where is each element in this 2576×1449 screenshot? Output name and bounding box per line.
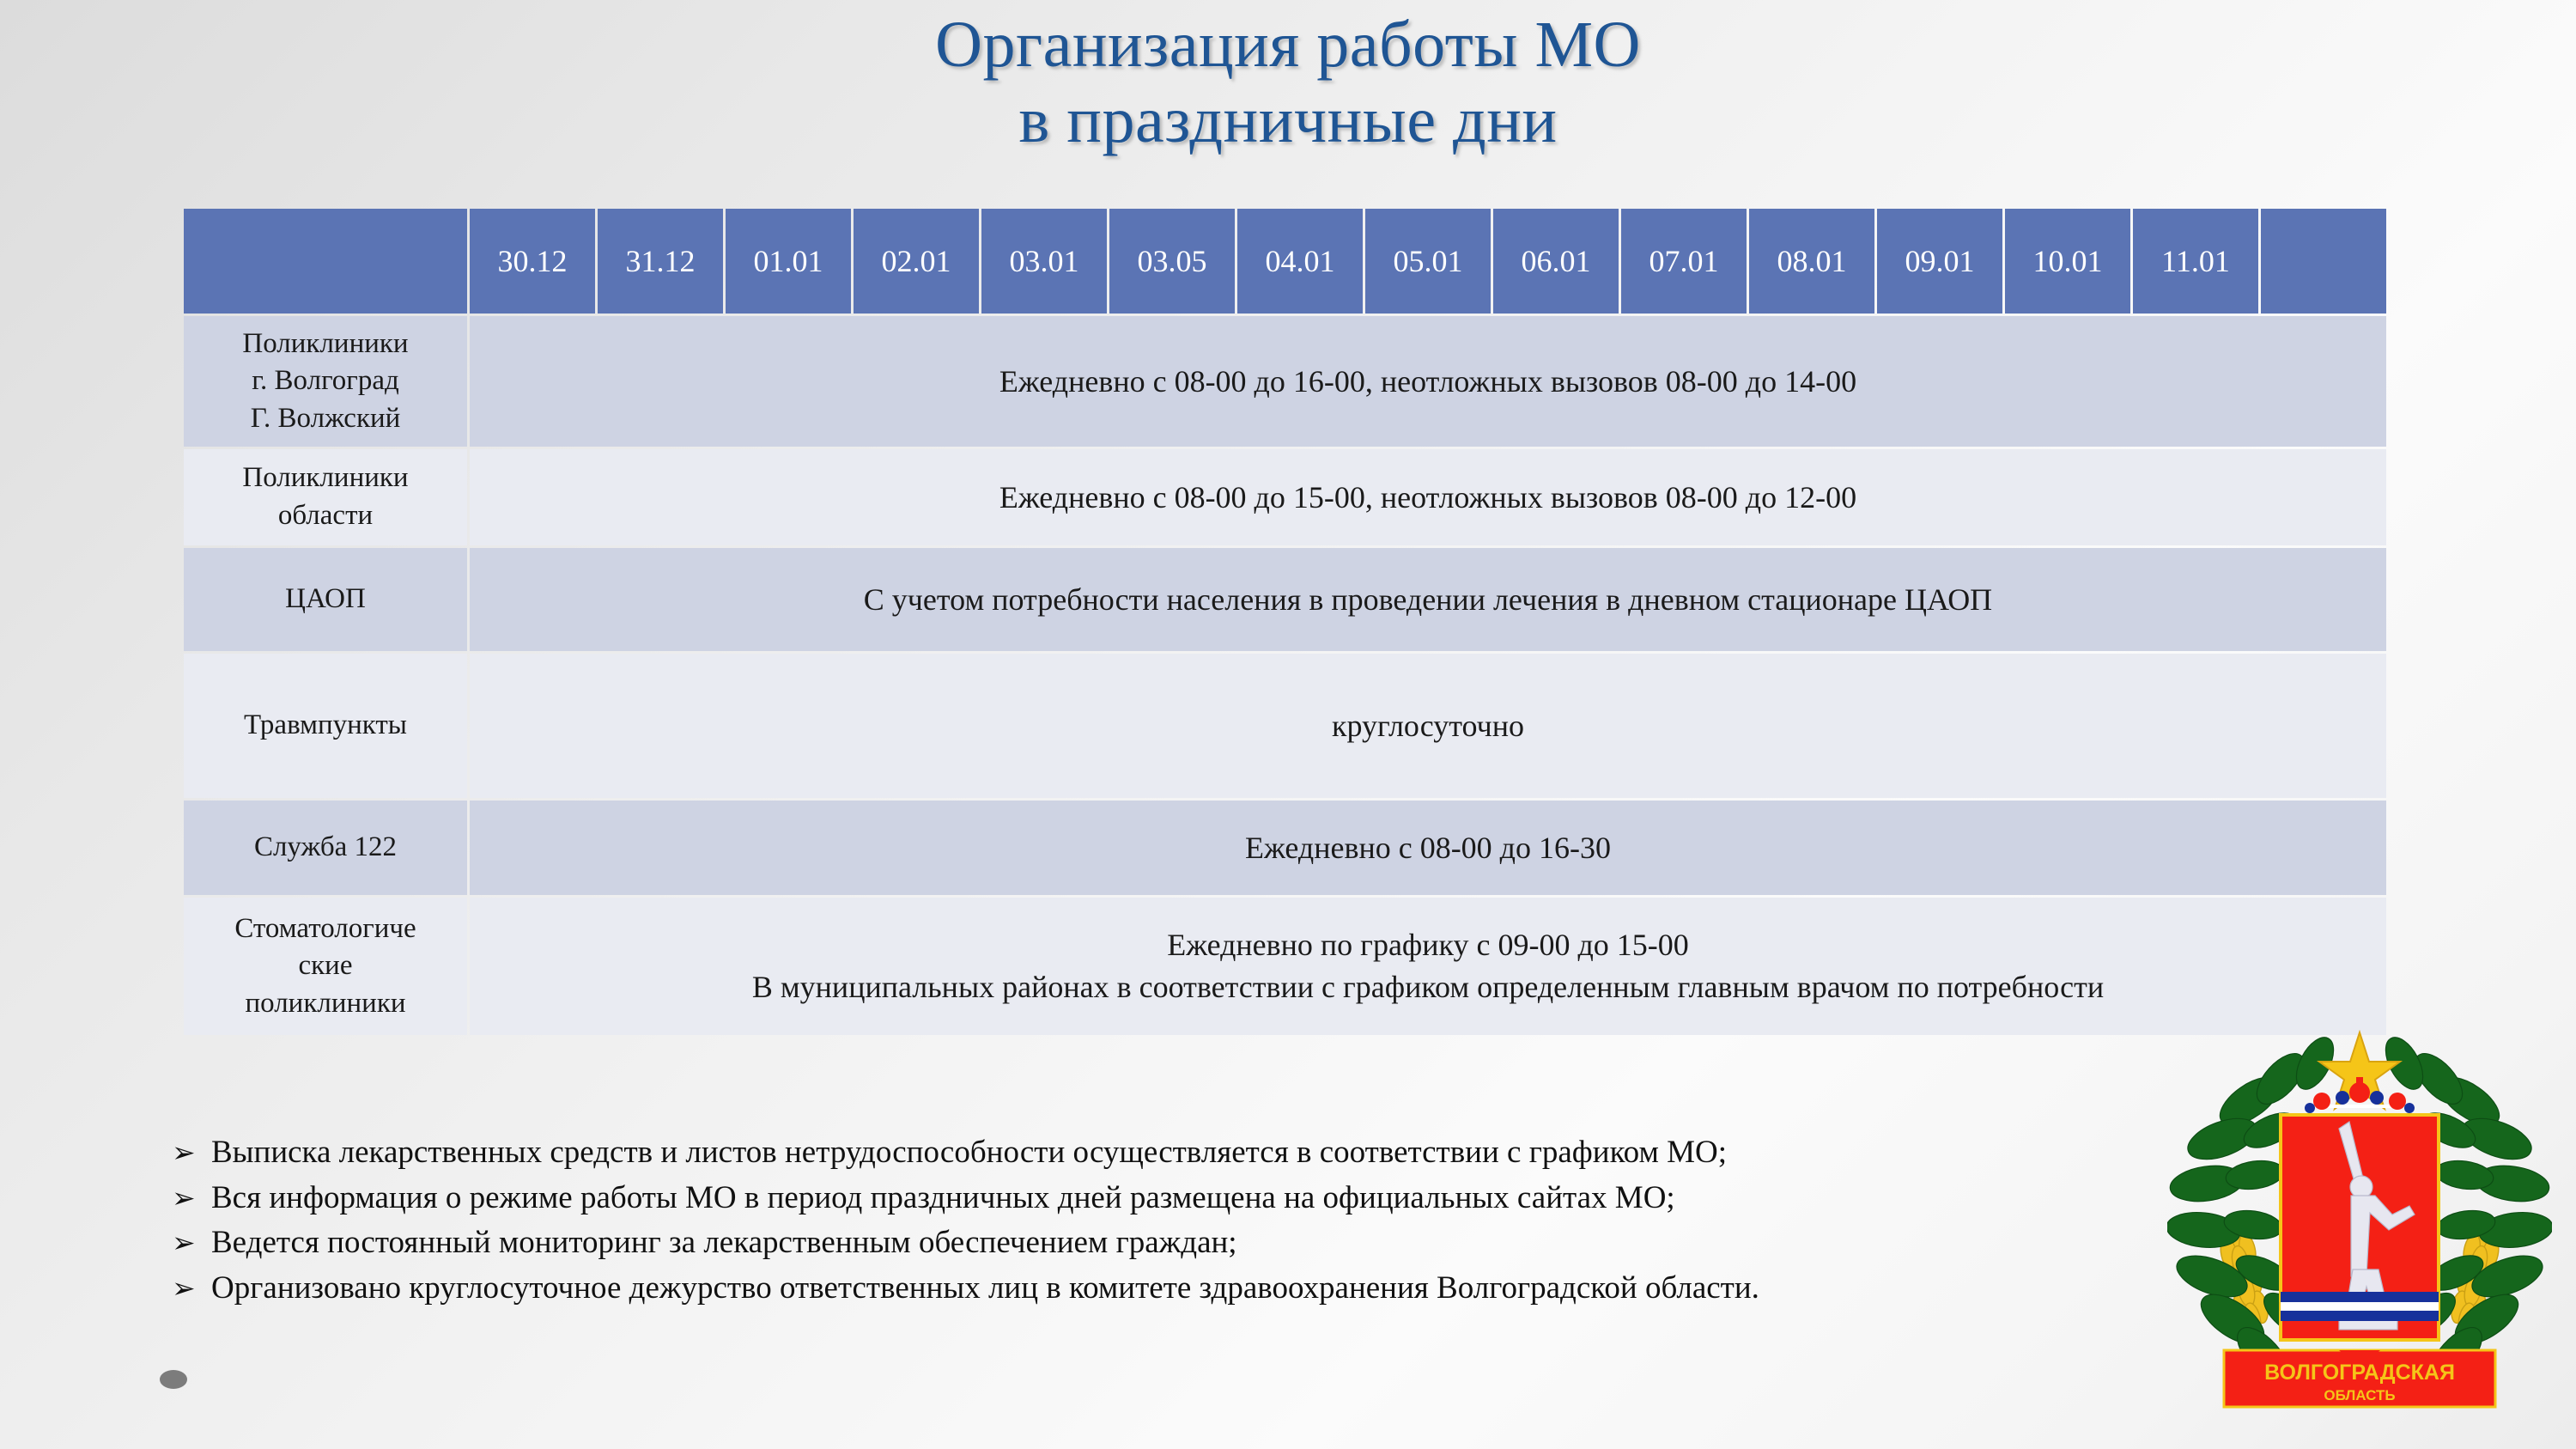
list-item-text: Вся информация о режиме работы МО в пери… xyxy=(211,1176,1675,1221)
notes-list: ➢ Выписка лекарственных средств и листов… xyxy=(172,1130,2233,1311)
list-item: ➢ Вся информация о режиме работы МО в пе… xyxy=(172,1176,2233,1221)
row-label-service-122: Служба 122 xyxy=(184,801,467,895)
arrow-bullet-icon: ➢ xyxy=(172,1269,211,1310)
row-label-line: ские xyxy=(299,950,353,981)
row-content-trauma-centers: круглосуточно xyxy=(470,654,2386,798)
row-label-line: Поликлиники xyxy=(242,462,408,493)
list-item: ➢ Выписка лекарственных средств и листов… xyxy=(172,1130,2233,1176)
header-cell-date-5: 03.05 xyxy=(1109,209,1235,314)
table-row: Стоматологиче ские поликлиники Ежедневно… xyxy=(184,898,2386,1035)
row-label-polyclinics-oblast: Поликлиники области xyxy=(184,449,467,545)
row-content-caop: С учетом потребности населения в проведе… xyxy=(470,548,2386,651)
banner-line-2: ОБЛАСТЬ xyxy=(2324,1387,2395,1403)
row-content-dental-clinics: Ежедневно по графику с 09-00 до 15-00 В … xyxy=(470,898,2386,1035)
table-header-row: 30.12 31.12 01.01 02.01 03.01 03.05 04.0… xyxy=(184,209,2386,314)
row-content-line: Ежедневно по графику с 09-00 до 15-00 xyxy=(470,924,2386,966)
header-cell-blank-right xyxy=(2261,209,2386,314)
row-label-line: Стоматологиче xyxy=(234,913,416,944)
arrow-bullet-icon: ➢ xyxy=(172,1224,211,1264)
row-content-line: В муниципальных районах в соответствии с… xyxy=(470,966,2386,1008)
list-item-text: Организовано круглосуточное дежурство от… xyxy=(211,1266,1759,1312)
table-row: Поликлиники области Ежедневно с 08-00 до… xyxy=(184,449,2386,545)
header-cell-date-7: 05.01 xyxy=(1365,209,1491,314)
header-cell-date-13: 11.01 xyxy=(2133,209,2258,314)
header-cell-date-2: 01.01 xyxy=(726,209,851,314)
title-line-1: Организация работы МО xyxy=(0,7,2576,82)
header-cell-date-10: 08.01 xyxy=(1749,209,1874,314)
row-label-line: Поликлиники xyxy=(242,328,408,359)
header-cell-date-4: 03.01 xyxy=(981,209,1107,314)
table-row: ЦАОП С учетом потребности населения в пр… xyxy=(184,548,2386,651)
row-label-line: поликлиники xyxy=(245,988,405,1019)
header-cell-date-0: 30.12 xyxy=(470,209,595,314)
holiday-schedule-table: 30.12 31.12 01.01 02.01 03.01 03.05 04.0… xyxy=(181,206,2389,1038)
row-content-service-122: Ежедневно с 08-00 до 16-30 xyxy=(470,801,2386,895)
row-content-line: круглосуточно xyxy=(470,705,2386,747)
row-label-line: Г. Волжский xyxy=(251,403,401,434)
list-item: ➢ Организовано круглосуточное дежурство … xyxy=(172,1266,2233,1312)
arrow-bullet-icon: ➢ xyxy=(172,1179,211,1220)
row-content-polyclinics-oblast: Ежедневно с 08-00 до 15-00, неотложных в… xyxy=(470,449,2386,545)
row-content-line: Ежедневно с 08-00 до 15-00, неотложных в… xyxy=(470,477,2386,519)
header-cell-blank-left xyxy=(184,209,467,314)
header-cell-date-11: 09.01 xyxy=(1877,209,2002,314)
row-label-line: Служба 122 xyxy=(254,831,397,862)
row-label-polyclinics-volgograd: Поликлиники г. Волгоград Г. Волжский xyxy=(184,316,467,447)
table-row: Служба 122 Ежедневно с 08-00 до 16-30 xyxy=(184,801,2386,895)
row-content-line: Ежедневно с 08-00 до 16-00, неотложных в… xyxy=(470,361,2386,403)
row-label-line: области xyxy=(278,500,373,531)
header-cell-date-9: 07.01 xyxy=(1621,209,1747,314)
banner-line-1: ВОЛГОГРАДСКАЯ xyxy=(2264,1361,2455,1385)
title-line-2: в праздничные дни xyxy=(0,82,2576,158)
row-label-line: Травмпункты xyxy=(244,709,407,740)
row-content-polyclinics-volgograd: Ежедневно с 08-00 до 16-00, неотложных в… xyxy=(470,316,2386,447)
header-cell-date-8: 06.01 xyxy=(1493,209,1619,314)
row-label-line: г. Волгоград xyxy=(252,365,399,396)
coat-of-arms-volgograd-oblast-icon: ВОЛГОГРАДСКАЯ ОБЛАСТЬ xyxy=(2167,1019,2552,1422)
header-cell-date-3: 02.01 xyxy=(854,209,979,314)
table-row: Травмпункты круглосуточно xyxy=(184,654,2386,798)
row-label-caop: ЦАОП xyxy=(184,548,467,651)
table-row: Поликлиники г. Волгоград Г. Волжский Еже… xyxy=(184,316,2386,447)
row-label-dental-clinics: Стоматологиче ские поликлиники xyxy=(184,898,467,1035)
list-item-text: Ведется постоянный мониторинг за лекарст… xyxy=(211,1221,1237,1266)
page-title: Организация работы МО в праздничные дни xyxy=(0,7,2576,158)
row-label-trauma-centers: Травмпункты xyxy=(184,654,467,798)
list-item: ➢ Ведется постоянный мониторинг за лекар… xyxy=(172,1221,2233,1266)
arrow-bullet-icon: ➢ xyxy=(172,1134,211,1174)
header-cell-date-6: 04.01 xyxy=(1237,209,1363,314)
header-cell-date-12: 10.01 xyxy=(2005,209,2130,314)
row-label-line: ЦАОП xyxy=(285,583,366,614)
list-item-text: Выписка лекарственных средств и листов н… xyxy=(211,1130,1727,1176)
decorative-dot xyxy=(160,1370,187,1389)
banner-ribbon: ВОЛГОГРАДСКАЯ ОБЛАСТЬ xyxy=(2224,1350,2495,1407)
header-cell-date-1: 31.12 xyxy=(598,209,723,314)
row-content-line: С учетом потребности населения в проведе… xyxy=(470,579,2386,621)
row-content-line: Ежедневно с 08-00 до 16-30 xyxy=(470,827,2386,869)
